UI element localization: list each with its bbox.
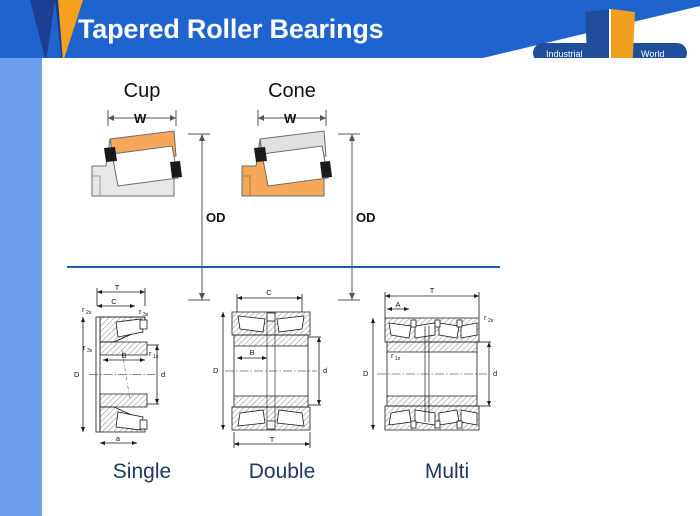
single-D-dim bbox=[81, 317, 85, 432]
single-dim-r3s-left-sub: 3s bbox=[87, 348, 93, 354]
multi-dim-r2s: r bbox=[484, 313, 487, 322]
figure-single: T C r 2s r 3s bbox=[67, 280, 217, 465]
single-dim-B: B bbox=[121, 351, 126, 360]
single-section bbox=[89, 317, 155, 432]
slide: Tapered Roller Bearings Industrial World… bbox=[0, 0, 700, 516]
multi-dim-r2s-sub: 2s bbox=[488, 318, 494, 324]
multi-dim-T: T bbox=[430, 286, 435, 295]
figure-double: C bbox=[207, 280, 357, 465]
cup-cage-left bbox=[104, 147, 117, 162]
single-dim-r2s: r bbox=[82, 305, 85, 314]
single-dim-d: d bbox=[161, 370, 165, 379]
single-dim-r1s-sub: 1s bbox=[153, 354, 159, 360]
multi-dim-d: d bbox=[493, 369, 497, 378]
figure-multi: T A bbox=[357, 280, 522, 465]
cone-cage-left bbox=[254, 147, 267, 162]
slide-content: Cup W bbox=[42, 58, 700, 516]
single-dim-D: D bbox=[74, 370, 80, 379]
multi-dim-A: A bbox=[395, 300, 400, 309]
left-accent-sidebar bbox=[0, 58, 42, 516]
cone-dim-od-label: OD bbox=[356, 210, 376, 225]
double-dim-d: d bbox=[323, 366, 327, 375]
cone-cage-right bbox=[320, 161, 332, 178]
cup-dim-w-label: W bbox=[134, 111, 147, 126]
single-dim-C: C bbox=[111, 297, 117, 306]
double-dim-D: D bbox=[213, 366, 219, 375]
single-dim-a: a bbox=[116, 434, 121, 443]
page-title: Tapered Roller Bearings bbox=[78, 14, 384, 45]
cup-drawing bbox=[92, 131, 182, 196]
figure-label-single: Single bbox=[67, 460, 217, 484]
double-dim-B: B bbox=[249, 348, 254, 357]
multi-dim-r1s-sub: 1s bbox=[395, 356, 401, 362]
section-divider bbox=[67, 266, 500, 268]
figure-label-multi: Multi bbox=[372, 460, 522, 484]
double-dim-T: T bbox=[270, 435, 275, 444]
figure-label-double: Double bbox=[207, 460, 357, 484]
single-dim-T: T bbox=[115, 283, 120, 292]
multi-D-dim bbox=[371, 318, 375, 430]
cup-cage-right bbox=[170, 161, 182, 178]
single-dim-r3s: r bbox=[139, 307, 142, 316]
single-dim-r3s-left: r bbox=[83, 343, 86, 352]
cone-drawing bbox=[242, 131, 332, 196]
multi-dim-D: D bbox=[363, 369, 369, 378]
single-dim-r2s-sub: 2s bbox=[86, 310, 92, 316]
figure-label-cup: Cup bbox=[97, 80, 187, 103]
multi-section bbox=[377, 318, 487, 430]
double-dim-C: C bbox=[266, 288, 272, 297]
figure-label-cone: Cone bbox=[247, 80, 337, 103]
cone-dim-w-label: W bbox=[284, 111, 297, 126]
double-D-dim bbox=[221, 312, 225, 430]
double-section bbox=[225, 312, 317, 430]
single-dim-r1s: r bbox=[149, 349, 152, 358]
